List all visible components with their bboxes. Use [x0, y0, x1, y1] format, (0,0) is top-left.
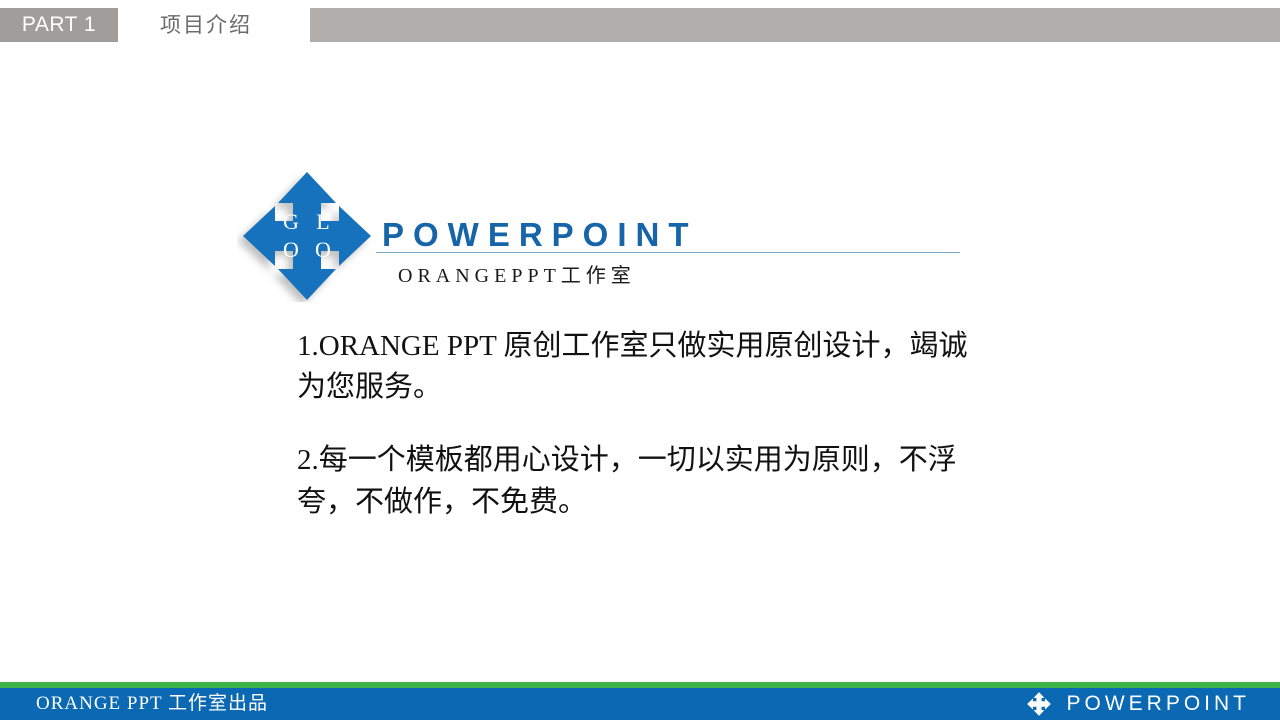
brand-title: POWERPOINT — [382, 216, 698, 254]
footer-credit: ORANGE PPT 工作室出品 — [36, 688, 268, 720]
footer-brand: POWERPOINT — [1026, 688, 1250, 720]
brand-logo: G L O O — [237, 170, 377, 302]
brand-subtitle: ORANGEPPT工作室 — [398, 259, 636, 288]
part-number-label: PART 1 — [0, 8, 118, 42]
content-paragraph-1: 1.ORANGE PPT 原创工作室只做实用原创设计，竭诚为您服务。 — [297, 326, 977, 408]
four-way-arrow-icon — [1026, 691, 1052, 717]
header-gray-bar — [310, 8, 1280, 42]
brand-divider — [376, 252, 960, 253]
content-paragraph-2: 2.每一个模板都用心设计，一切以实用为原则，不浮夸，不做作，不免费。 — [297, 440, 977, 522]
footer-brand-text: POWERPOINT — [1066, 692, 1250, 716]
page-title: 项目介绍 — [160, 8, 252, 42]
slide-header: PART 1 项目介绍 — [0, 8, 1280, 42]
four-way-arrow-icon — [237, 170, 377, 302]
content-body: 1.ORANGE PPT 原创工作室只做实用原创设计，竭诚为您服务。 2.每一个… — [297, 326, 977, 523]
